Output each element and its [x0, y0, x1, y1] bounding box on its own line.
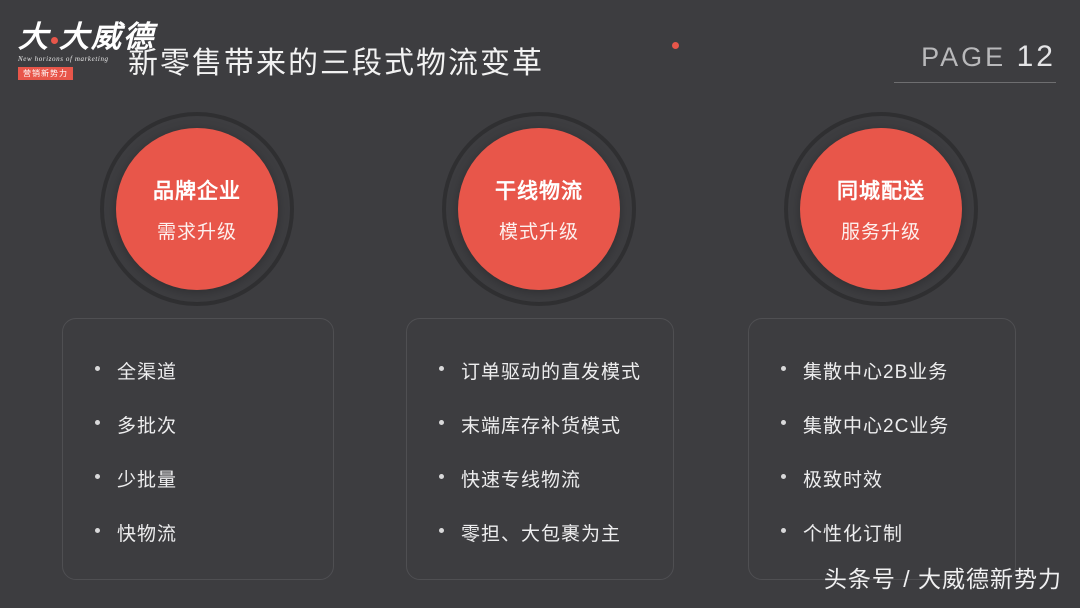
slide: 大大威德 New horizons of marketing 营销新势力 新零售…: [0, 0, 1080, 608]
bullet-panel: 集散中心2B业务 集散中心2C业务 极致时效 个性化订制: [748, 318, 1016, 580]
list-item: 订单驱动的直发模式: [437, 357, 673, 384]
bullet-list: 订单驱动的直发模式 末端库存补货模式 快速专线物流 零担、大包裹为主: [407, 357, 673, 546]
bullet-list: 集散中心2B业务 集散中心2C业务 极致时效 个性化订制: [749, 357, 1015, 546]
list-item: 个性化订制: [779, 519, 1015, 546]
list-item: 零担、大包裹为主: [437, 519, 673, 546]
list-item: 集散中心2B业务: [779, 357, 1015, 384]
circle-title: 品牌企业: [153, 175, 241, 205]
circle-badge: 干线物流 模式升级: [442, 112, 638, 308]
list-item: 多批次: [93, 411, 333, 438]
circle-fill: 同城配送 服务升级: [800, 128, 962, 290]
circle-fill: 品牌企业 需求升级: [116, 128, 278, 290]
circle-title: 干线物流: [495, 175, 583, 205]
circle-subtitle: 模式升级: [499, 217, 579, 244]
watermark: 头条号 / 大威德新势力: [824, 560, 1062, 594]
list-item: 快速专线物流: [437, 465, 673, 492]
column-brand-enterprise: 品牌企业 需求升级 全渠道 多批次 少批量 快物流: [28, 0, 368, 608]
circle-fill: 干线物流 模式升级: [458, 128, 620, 290]
list-item: 少批量: [93, 465, 333, 492]
list-item: 集散中心2C业务: [779, 411, 1015, 438]
circle-badge: 同城配送 服务升级: [784, 112, 980, 308]
bullet-panel: 订单驱动的直发模式 末端库存补货模式 快速专线物流 零担、大包裹为主: [406, 318, 674, 580]
circle-subtitle: 需求升级: [157, 217, 237, 244]
column-trunk-logistics: 干线物流 模式升级 订单驱动的直发模式 末端库存补货模式 快速专线物流 零担、大…: [370, 0, 710, 608]
list-item: 极致时效: [779, 465, 1015, 492]
list-item: 末端库存补货模式: [437, 411, 673, 438]
column-city-delivery: 同城配送 服务升级 集散中心2B业务 集散中心2C业务 极致时效 个性化订制: [712, 0, 1052, 608]
circle-subtitle: 服务升级: [841, 217, 921, 244]
list-item: 全渠道: [93, 357, 333, 384]
list-item: 快物流: [93, 519, 333, 546]
circle-badge: 品牌企业 需求升级: [100, 112, 296, 308]
bullet-list: 全渠道 多批次 少批量 快物流: [63, 357, 333, 546]
circle-title: 同城配送: [837, 175, 925, 205]
bullet-panel: 全渠道 多批次 少批量 快物流: [62, 318, 334, 580]
